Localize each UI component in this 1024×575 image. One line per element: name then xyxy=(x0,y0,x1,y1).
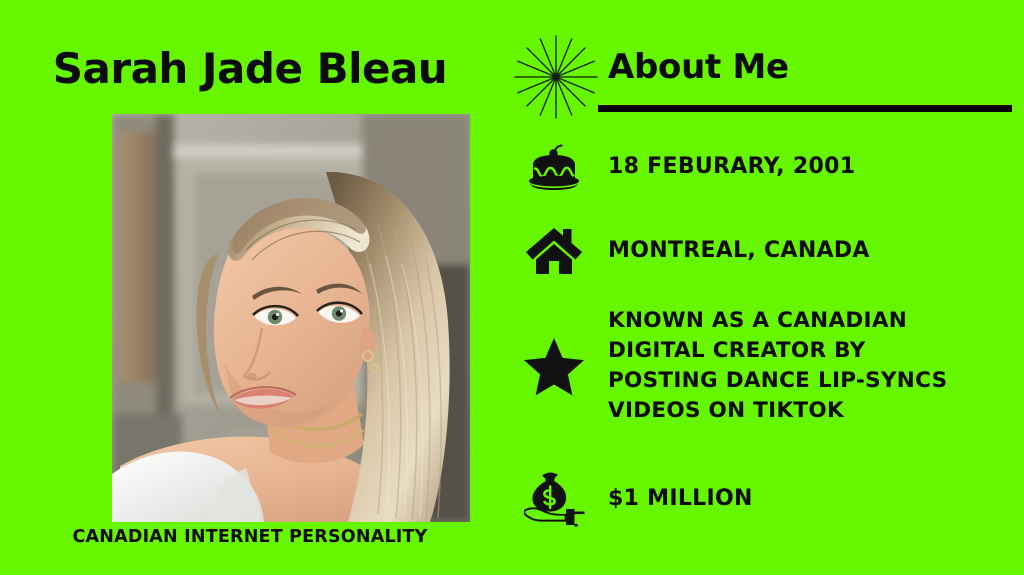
profile-caption: CANADIAN INTERNET PERSONALITY xyxy=(0,529,500,547)
about-underline xyxy=(598,105,1012,112)
birth-date-value: 18 FEBURARY, 2001 xyxy=(608,154,1024,181)
profile-photo xyxy=(112,114,470,522)
info-row-net-worth: $1 MILLION xyxy=(500,462,1024,536)
info-row-hometown: MONTREAL, CANADA xyxy=(500,218,1024,284)
net-worth-value: $1 MILLION xyxy=(608,486,1024,513)
known-for-value: KNOWN AS A CANADIAN DIGITAL CREATOR BY P… xyxy=(608,306,1024,426)
info-row-birth-date: 18 FEBURARY, 2001 xyxy=(500,136,1024,198)
about-heading: About Me xyxy=(608,50,789,84)
birthday-cake-icon xyxy=(500,141,608,193)
page-title: Sarah Jade Bleau xyxy=(0,48,500,90)
about-header: About Me xyxy=(500,28,1024,118)
known-for-line-4: VIDEOS ON TIKTOK xyxy=(608,396,1024,426)
house-icon xyxy=(500,224,608,278)
starburst-icon xyxy=(513,34,599,120)
profile-left-column: Sarah Jade Bleau xyxy=(0,0,500,575)
info-row-known-for: KNOWN AS A CANADIAN DIGITAL CREATOR BY P… xyxy=(500,298,1024,434)
star-icon xyxy=(500,336,608,396)
money-bag-in-hand-icon xyxy=(500,468,608,530)
hometown-value: MONTREAL, CANADA xyxy=(608,238,1024,265)
about-section: About Me xyxy=(500,0,1024,575)
known-for-line-3: POSTING DANCE LIP-SYNCS xyxy=(608,366,1024,396)
profile-card: Sarah Jade Bleau xyxy=(0,0,1024,575)
known-for-line-2: DIGITAL CREATOR BY xyxy=(608,336,1024,366)
known-for-line-1: KNOWN AS A CANADIAN xyxy=(608,306,1024,336)
